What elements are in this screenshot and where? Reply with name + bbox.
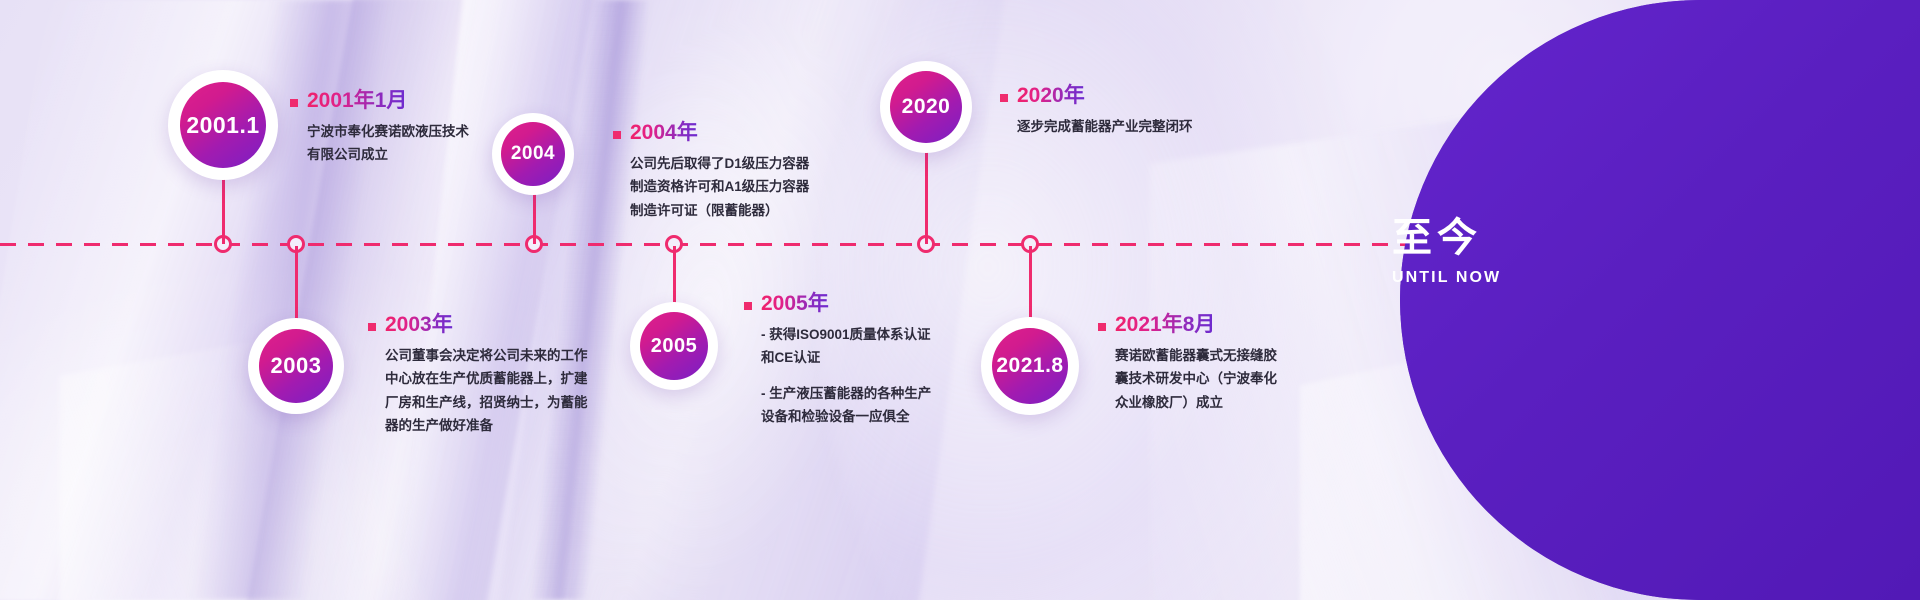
- year-bubble-2003[interactable]: 2003: [248, 318, 344, 414]
- bullet-square-icon: [290, 99, 298, 107]
- milestone-description: 公司先后取得了D1级压力容器制造资格许可和A1级压力容器制造许可证（限蓄能器）: [613, 152, 816, 222]
- connector-stem-2005: [673, 246, 676, 305]
- bullet-square-icon: [744, 302, 752, 310]
- milestone-title: 2004年: [630, 120, 698, 145]
- milestone-block-2003: 2003年 公司董事会决定将公司未来的工作中心放在生产优质蓄能器上，扩建厂房和生…: [368, 312, 592, 437]
- year-bubble-label: 2020: [890, 71, 962, 143]
- milestone-block-2004: 2004年 公司先后取得了D1级压力容器制造资格许可和A1级压力容器制造许可证（…: [613, 120, 816, 222]
- bullet-square-icon: [613, 131, 621, 139]
- year-bubble-label: 2021.8: [992, 328, 1068, 404]
- milestone-header: 2003年: [368, 312, 592, 337]
- milestone-header: 2021年8月: [1098, 312, 1288, 337]
- year-bubble-label: 2005: [640, 312, 708, 380]
- milestone-description-line: - 生产液压蓄能器的各种生产设备和检验设备一应俱全: [761, 382, 940, 428]
- connector-stem-2004: [533, 190, 536, 244]
- milestone-title: 2020年: [1017, 83, 1085, 108]
- timeline-infographic: 2001.1 2003 2004 2005 2020 2021.8 2001年1…: [0, 0, 1920, 600]
- background-swirl: [0, 0, 568, 600]
- milestone-description-line: 宁波市奉化赛诺欧液压技术有限公司成立: [307, 120, 475, 166]
- milestone-title: 2005年: [761, 291, 829, 316]
- milestone-block-2020: 2020年 逐步完成蓄能器产业完整闭环: [1000, 83, 1260, 138]
- milestone-header: 2004年: [613, 120, 816, 145]
- year-bubble-2021-8[interactable]: 2021.8: [981, 317, 1079, 415]
- milestone-description: 公司董事会决定将公司未来的工作中心放在生产优质蓄能器上，扩建厂房和生产线，招贤纳…: [368, 344, 592, 437]
- milestone-description: - 获得ISO9001质量体系认证和CE认证 - 生产液压蓄能器的各种生产设备和…: [744, 323, 940, 428]
- milestone-title: 2021年8月: [1115, 312, 1215, 337]
- milestone-description: 宁波市奉化赛诺欧液压技术有限公司成立: [290, 120, 475, 166]
- year-bubble-2001-1[interactable]: 2001.1: [168, 70, 278, 180]
- milestone-header: 2005年: [744, 291, 940, 316]
- year-bubble-2004[interactable]: 2004: [492, 113, 574, 195]
- milestone-description: 赛诺欧蓄能器囊式无接缝胶囊技术研发中心（宁波奉化众业橡胶厂）成立: [1098, 344, 1288, 414]
- year-bubble-2005[interactable]: 2005: [630, 302, 718, 390]
- year-bubble-2020[interactable]: 2020: [880, 61, 972, 153]
- until-now-text: 至今 UNTIL NOW: [1392, 215, 1692, 287]
- milestone-description-line: 赛诺欧蓄能器囊式无接缝胶囊技术研发中心（宁波奉化众业橡胶厂）成立: [1115, 344, 1288, 414]
- connector-stem-2020: [925, 150, 928, 244]
- connector-stem-2003: [295, 246, 298, 322]
- until-now-label-zh: 至今: [1392, 215, 1692, 261]
- milestone-header: 2020年: [1000, 83, 1260, 108]
- background-swirl: [528, 0, 651, 600]
- bullet-square-icon: [1000, 94, 1008, 102]
- milestone-title: 2001年1月: [307, 88, 407, 113]
- until-now-panel-fill: [1400, 0, 1920, 600]
- milestone-block-2001-1: 2001年1月 宁波市奉化赛诺欧液压技术有限公司成立: [290, 88, 475, 167]
- milestone-description-line: - 获得ISO9001质量体系认证和CE认证: [761, 323, 940, 369]
- connector-stem-2021-8: [1029, 246, 1032, 319]
- milestone-description: 逐步完成蓄能器产业完整闭环: [1000, 115, 1260, 138]
- year-bubble-label: 2003: [259, 329, 333, 403]
- year-bubble-label: 2001.1: [180, 82, 266, 168]
- milestone-description-line: 逐步完成蓄能器产业完整闭环: [1017, 115, 1260, 138]
- milestone-title: 2003年: [385, 312, 453, 337]
- bullet-square-icon: [368, 323, 376, 331]
- bullet-square-icon: [1098, 323, 1106, 331]
- until-now-label-en: UNTIL NOW: [1392, 269, 1692, 287]
- until-now-panel: [1400, 0, 1920, 600]
- milestone-description-line: 公司董事会决定将公司未来的工作中心放在生产优质蓄能器上，扩建厂房和生产线，招贤纳…: [385, 344, 592, 437]
- milestone-block-2021-8: 2021年8月 赛诺欧蓄能器囊式无接缝胶囊技术研发中心（宁波奉化众业橡胶厂）成立: [1098, 312, 1288, 414]
- milestone-block-2005: 2005年 - 获得ISO9001质量体系认证和CE认证 - 生产液压蓄能器的各…: [744, 291, 940, 428]
- year-bubble-label: 2004: [501, 122, 565, 186]
- milestone-header: 2001年1月: [290, 88, 475, 113]
- milestone-description-line: 公司先后取得了D1级压力容器制造资格许可和A1级压力容器制造许可证（限蓄能器）: [630, 152, 816, 222]
